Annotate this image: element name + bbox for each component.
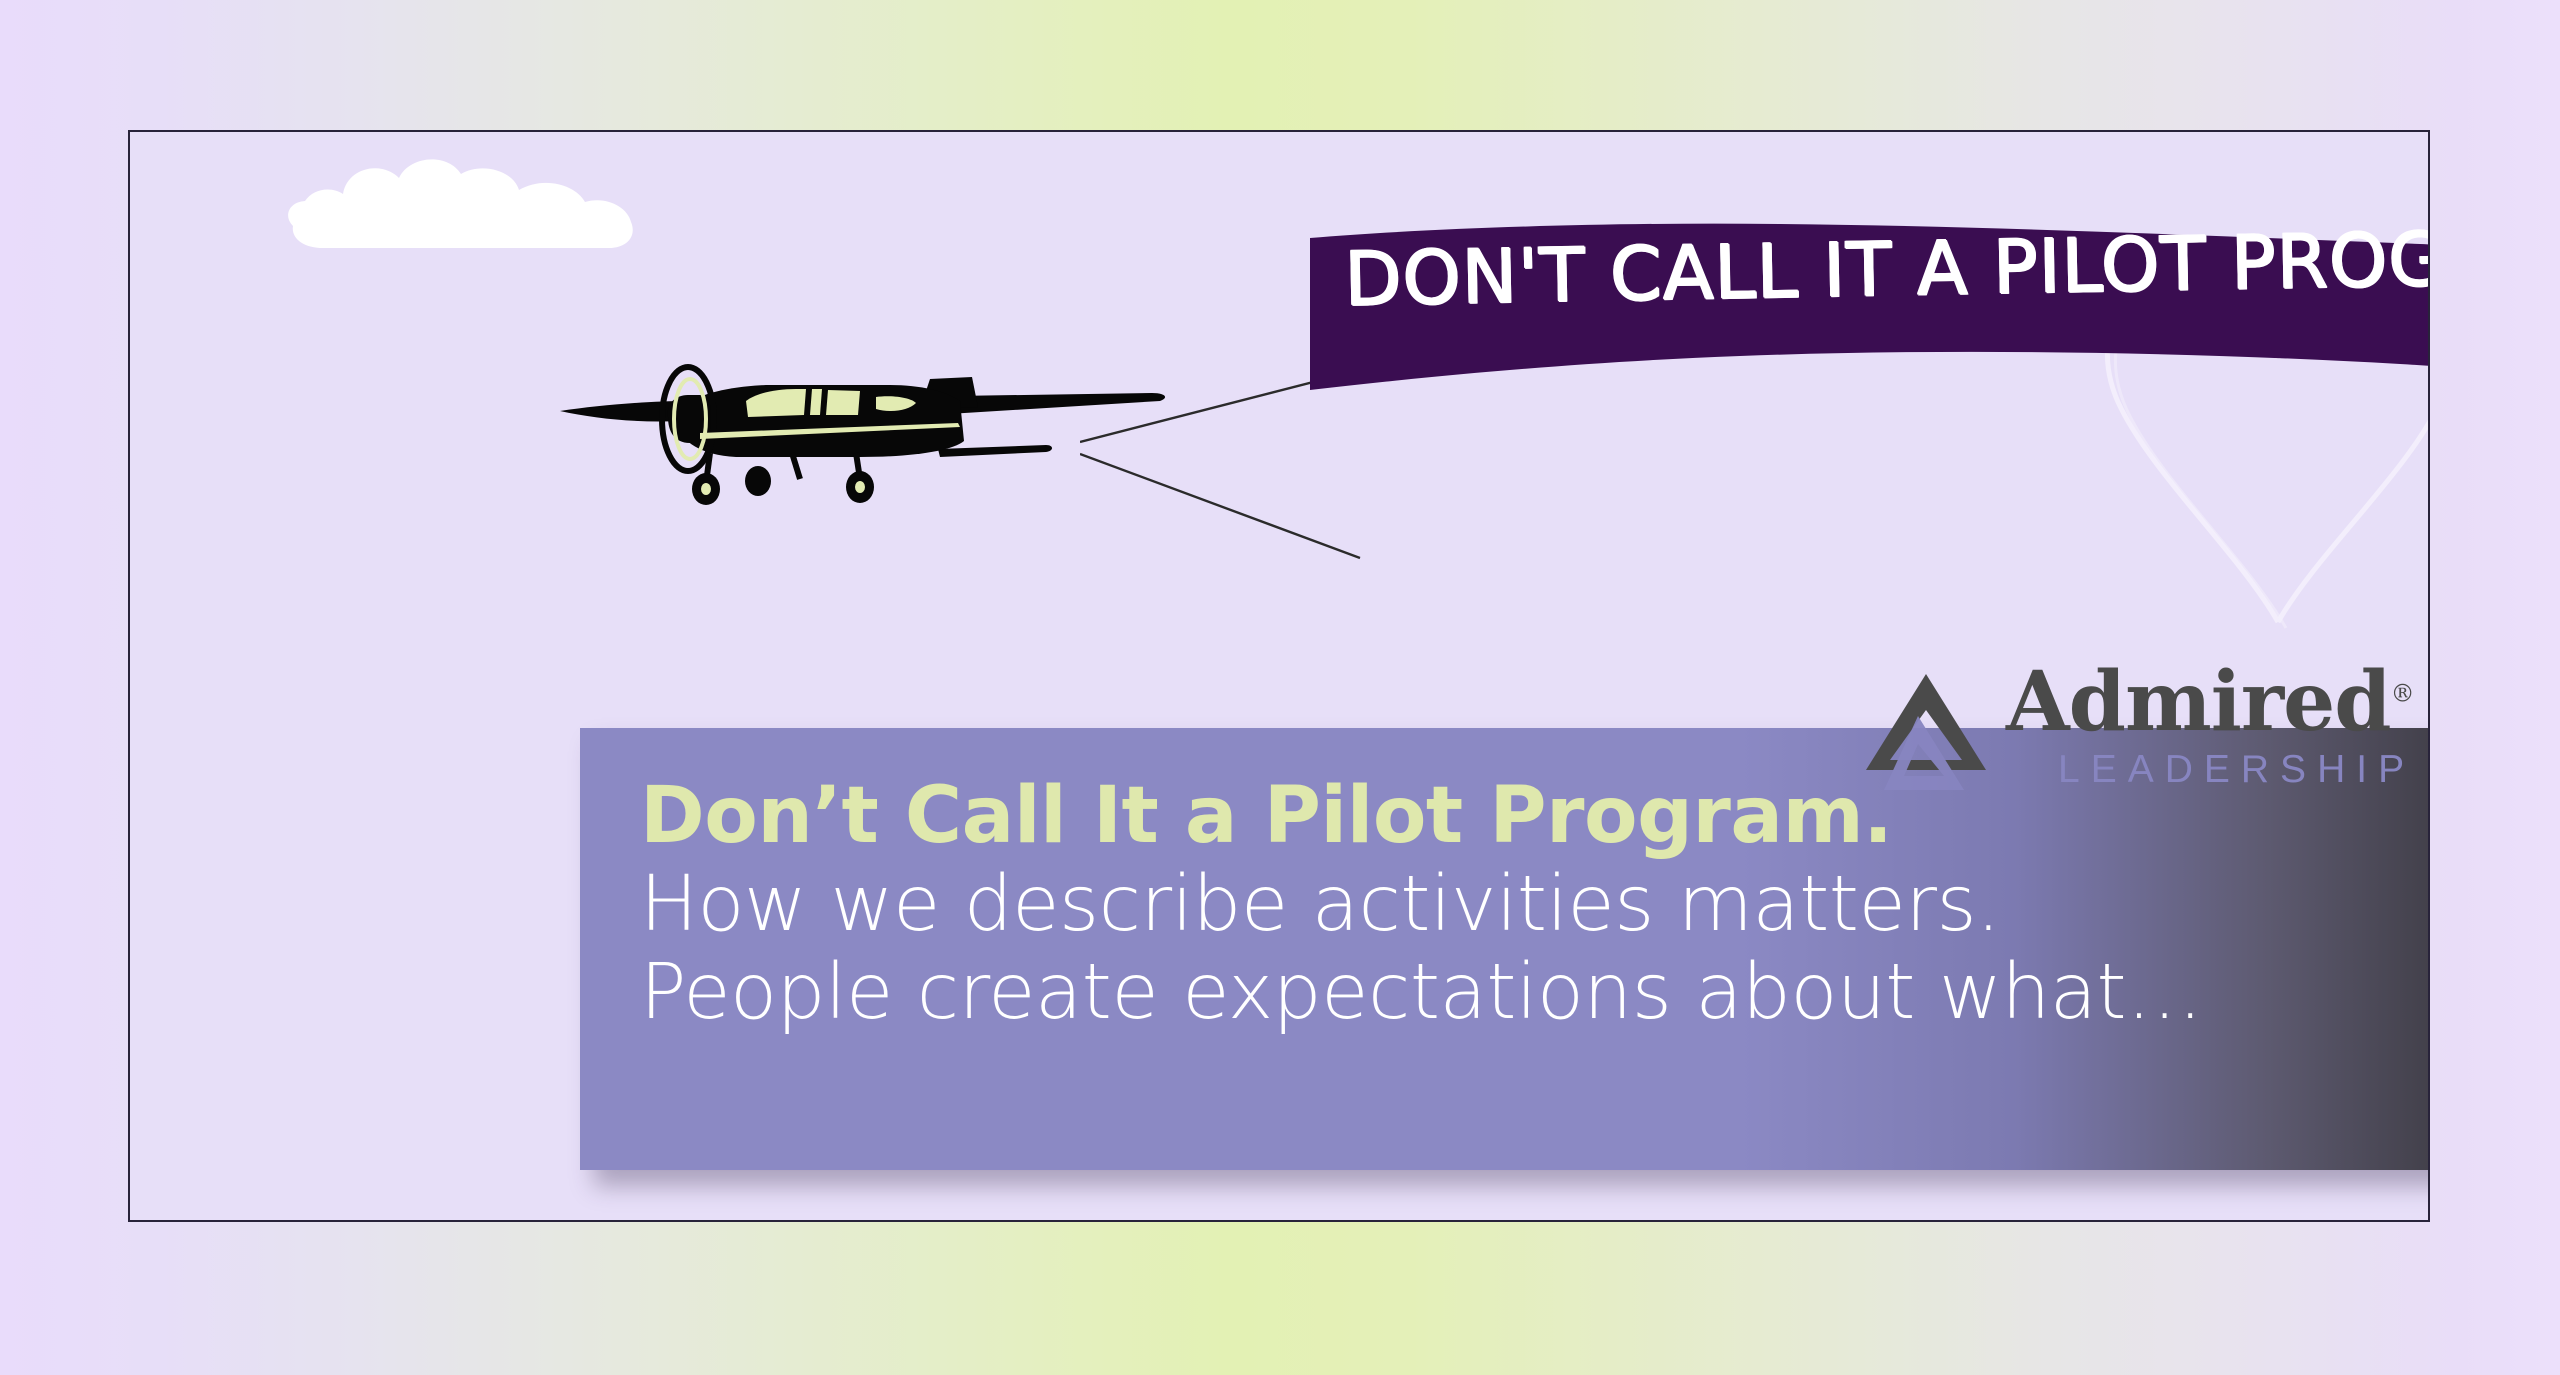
logo-wordmark-group: Admired® LEADERSHIP [2006,662,2415,792]
airplane-icon [560,357,1200,537]
card-inner: DON'T CALL IT A PILOT PROGRAM Don’t Call… [130,132,2428,1220]
content-card: DON'T CALL IT A PILOT PROGRAM Don’t Call… [128,130,2430,1222]
aerial-banner [1310,200,2428,440]
logo-leadership: LEADERSHIP [2058,748,2415,792]
registered-trademark-icon: ® [2391,680,2414,708]
admired-leadership-logo: Admired® LEADERSHIP [1860,662,2428,812]
logo-admired: Admired® [2006,662,2415,742]
logo-admired-text: Admired [2006,654,2391,750]
slide-canvas: DON'T CALL IT A PILOT PROGRAM Don’t Call… [0,0,2560,1375]
triangle-logo-icon [1860,666,1992,798]
caption-line-2: How we describe activities matters. [640,861,2428,950]
cloud-icon [275,144,725,264]
caption-line-3: People create expectations about what… [640,949,2428,1038]
